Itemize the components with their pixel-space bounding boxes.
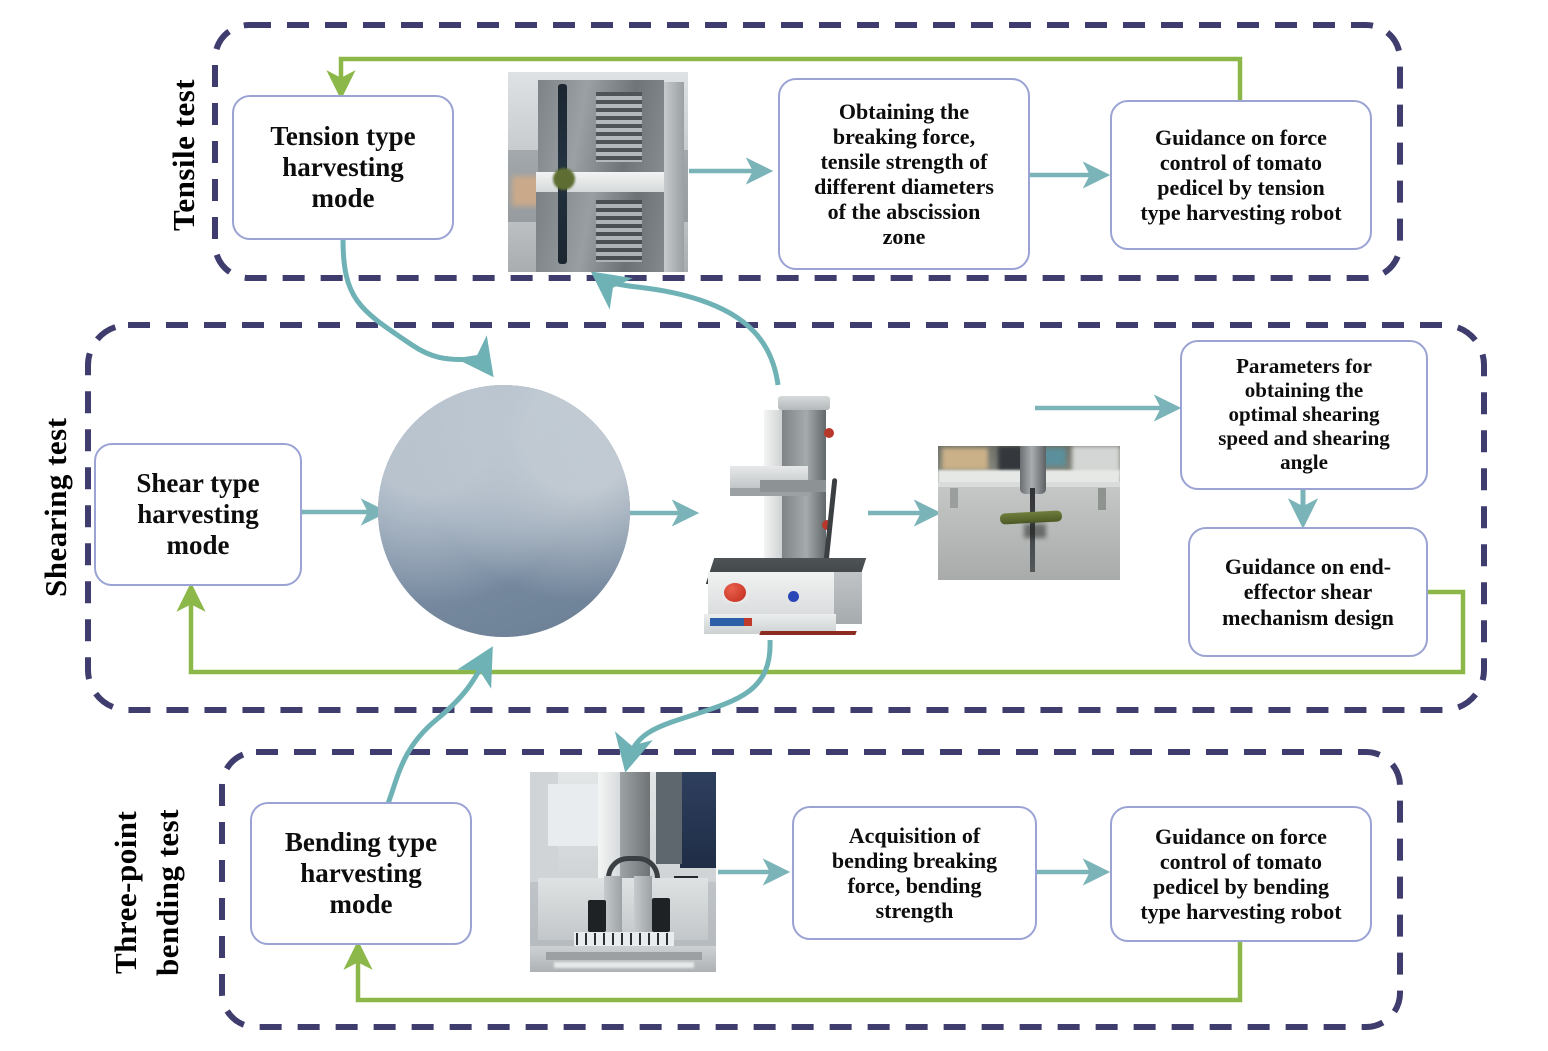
node-line: of the abscission: [814, 199, 994, 224]
node-line: Tension type: [270, 121, 415, 152]
node-bending-harvesting-mode[interactable]: Bending type harvesting mode: [250, 802, 472, 945]
node-line: force, bending: [832, 873, 997, 898]
feedback-bending: [358, 941, 1240, 1000]
node-line: pedicel by tension: [1140, 175, 1341, 200]
curve-machine-to-bendphoto: [627, 640, 770, 765]
group-label-bending: Three-point bending test: [108, 775, 194, 1010]
node-line: mode: [136, 530, 259, 561]
node-line: harvesting: [270, 152, 415, 183]
node-line: Guidance on force: [1140, 125, 1341, 150]
node-line: different diameters: [814, 174, 994, 199]
node-line: control of tomato: [1140, 150, 1341, 175]
group-label-shearing: Shearing test: [38, 400, 74, 615]
node-line: type harvesting robot: [1140, 899, 1341, 924]
node-line: mode: [285, 889, 437, 920]
node-bending-guidance[interactable]: Guidance on force control of tomato pedi…: [1110, 806, 1372, 942]
curve-tension-mode-to-tomato: [343, 239, 489, 371]
node-line: harvesting: [136, 499, 259, 530]
node-line: mechanism design: [1222, 605, 1394, 630]
node-line: pedicel by bending: [1140, 874, 1341, 899]
node-line: Guidance on end-: [1222, 554, 1394, 579]
node-line: control of tomato: [1140, 849, 1341, 874]
node-line: Guidance on force: [1140, 824, 1341, 849]
node-shear-parameters[interactable]: Parameters for obtaining the optimal she…: [1180, 340, 1428, 490]
node-line: obtaining the: [1218, 379, 1390, 403]
node-line: tensile strength of: [814, 149, 994, 174]
flowchart-canvas: Tensile test Shearing test Three-point b…: [0, 0, 1548, 1051]
image-tensile-grip-test: [508, 72, 688, 272]
node-tension-harvesting-mode[interactable]: Tension type harvesting mode: [232, 95, 454, 240]
node-line: angle: [1218, 451, 1390, 475]
node-line: Obtaining the: [814, 99, 994, 124]
node-line: Parameters for: [1218, 355, 1390, 379]
node-tensile-guidance[interactable]: Guidance on force control of tomato pedi…: [1110, 100, 1372, 250]
node-line: bending breaking: [832, 848, 997, 873]
node-line: optimal shearing: [1218, 403, 1390, 427]
image-shear-blade-pedicel: [938, 446, 1120, 580]
group-label-tensile: Tensile test: [166, 60, 202, 250]
node-line: effector shear: [1222, 579, 1394, 604]
node-shear-harvesting-mode[interactable]: Shear type harvesting mode: [94, 443, 302, 586]
node-shear-guidance[interactable]: Guidance on end- effector shear mechanis…: [1188, 527, 1428, 657]
group-label-bending-line2: bending test: [150, 775, 186, 1010]
node-line: Acquisition of: [832, 823, 997, 848]
node-tensile-results[interactable]: Obtaining the breaking force, tensile st…: [778, 78, 1030, 270]
image-three-point-bending-rig: [530, 772, 716, 972]
node-line: strength: [832, 898, 997, 923]
image-tomato-on-vine: [378, 385, 630, 637]
image-texture-analyzer-machine: [694, 382, 870, 640]
node-line: type harvesting robot: [1140, 200, 1341, 225]
node-line: zone: [814, 224, 994, 249]
node-line: Bending type: [285, 827, 437, 858]
node-line: Shear type: [136, 468, 259, 499]
node-bending-results[interactable]: Acquisition of bending breaking force, b…: [792, 806, 1037, 940]
node-line: mode: [270, 183, 415, 214]
curve-machine-to-tensile-photo: [597, 276, 778, 385]
node-line: harvesting: [285, 858, 437, 889]
node-line: breaking force,: [814, 124, 994, 149]
node-line: speed and shearing: [1218, 427, 1390, 451]
group-label-bending-line1: Three-point: [108, 775, 144, 1010]
